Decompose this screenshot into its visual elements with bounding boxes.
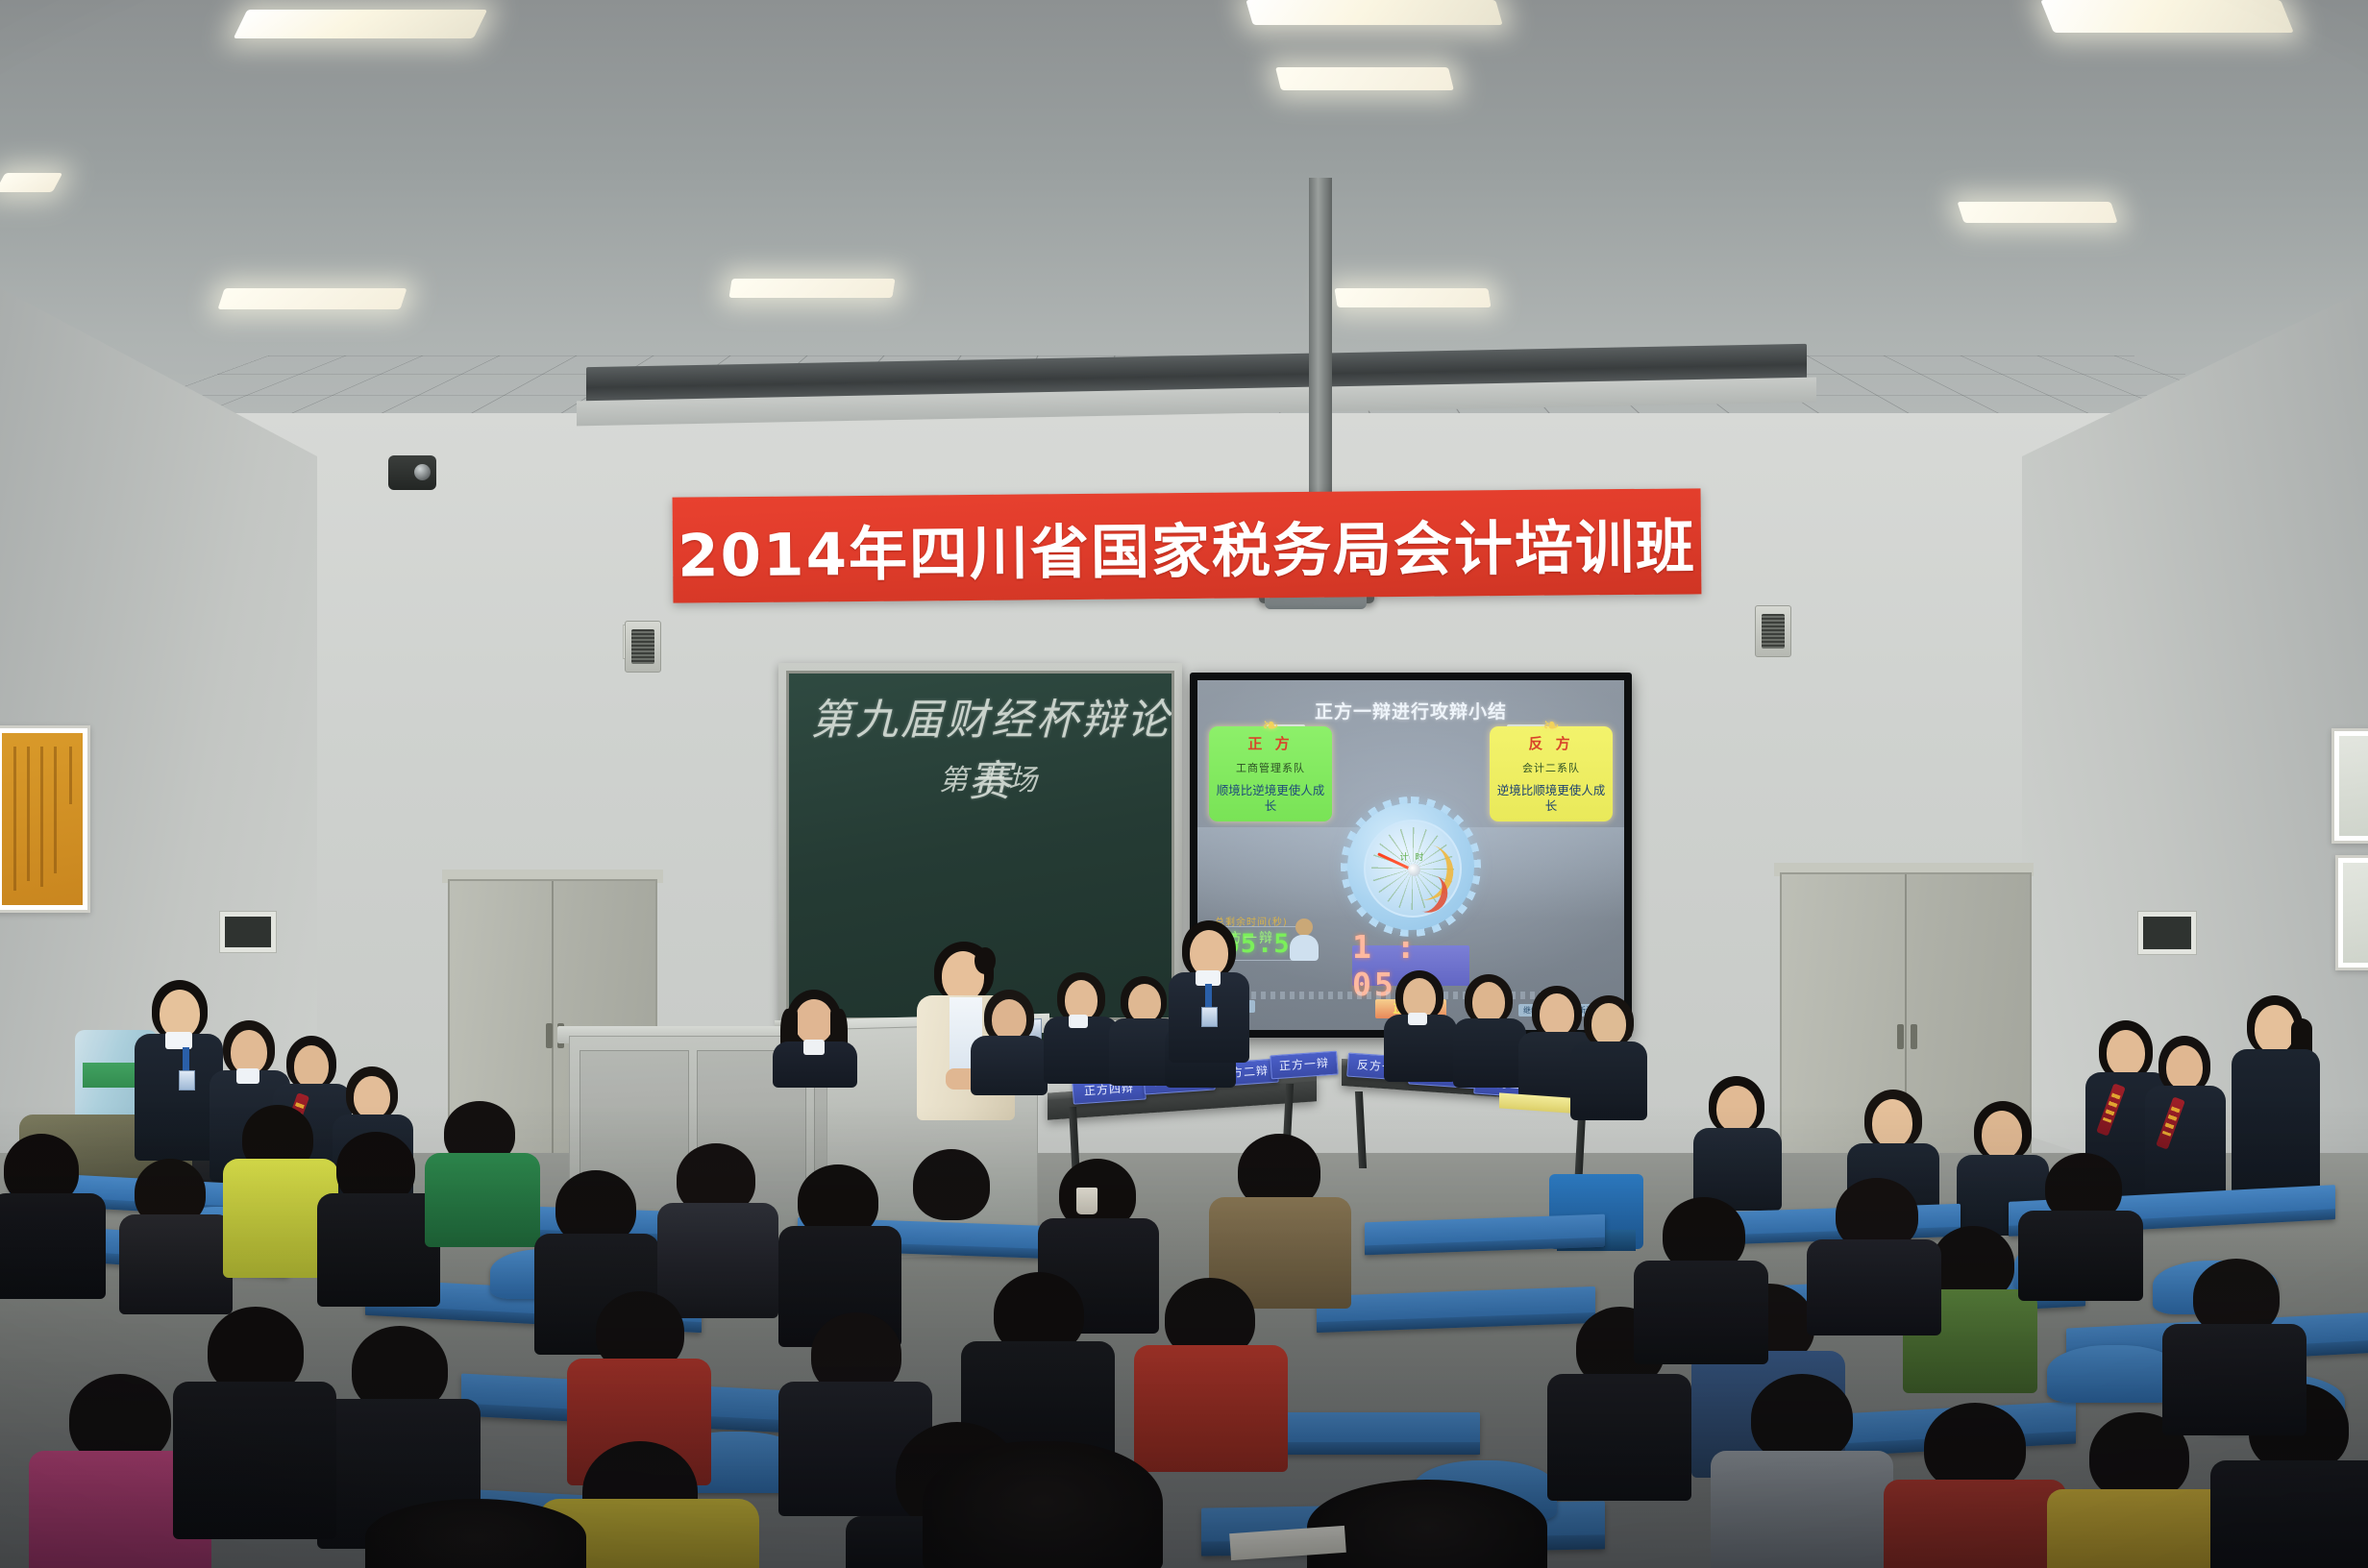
audience-member — [317, 1132, 440, 1305]
ceiling-light — [728, 279, 895, 298]
gauge-dial: 计 时 — [1364, 820, 1462, 918]
wall-speaker-stage-left — [625, 621, 661, 673]
ribbon-icon: ❧ — [1262, 714, 1279, 738]
torso — [971, 1036, 1048, 1095]
torso — [173, 1382, 336, 1539]
camera-lens-icon — [414, 464, 431, 480]
negative-team-name: 会计二系队 — [1495, 760, 1607, 775]
person-debater-negative — [1453, 974, 1526, 1090]
negative-team-card: ❧ 反 方 会计二系队 逆境比顺境更使人成长 — [1490, 726, 1613, 821]
head — [1540, 993, 1574, 1036]
hair — [1307, 1480, 1547, 1568]
person-debater — [1044, 972, 1119, 1086]
ceiling-light — [0, 173, 62, 192]
door-handle-icon — [1897, 1024, 1904, 1049]
head — [2255, 1005, 2295, 1053]
lanyard-badge — [183, 1047, 189, 1072]
head — [1716, 1086, 1757, 1132]
door-handle-icon — [1911, 1024, 1917, 1049]
head — [1190, 930, 1228, 976]
audience-member — [1634, 1197, 1768, 1360]
ribbon-icon: ❧ — [1542, 714, 1560, 738]
audience-member-yellow-coat — [2047, 1412, 2230, 1568]
event-banner: 2014年四川省国家税务局会计培训班 — [673, 488, 1702, 602]
person-moderator-seated — [769, 990, 861, 1076]
ceiling-light — [1275, 67, 1454, 90]
door-handle-icon — [546, 1023, 553, 1048]
affirmative-team-card: ❧ 正 方 工商管理系队 顺境比逆境更使人成长 — [1209, 726, 1332, 821]
audience-member — [173, 1307, 336, 1537]
ceiling-light — [1246, 0, 1502, 25]
placard-affirmative-1: 正方一辩 — [1270, 1051, 1339, 1080]
ceiling-light — [2040, 0, 2294, 33]
torso — [2232, 1049, 2320, 1209]
head — [2107, 1030, 2145, 1076]
person-timekeeper-standing — [1165, 920, 1253, 1065]
audience-chair — [2047, 1345, 2182, 1403]
audience-member-red-coat — [1884, 1403, 2066, 1568]
torso — [2210, 1460, 2368, 1568]
head — [1128, 984, 1161, 1022]
hair-bun — [974, 947, 996, 974]
audience-member-foreground — [1307, 1480, 1547, 1568]
wall-notice-left — [219, 911, 277, 953]
blackboard-subtitle-line: 第十场 — [795, 756, 1174, 798]
torso — [119, 1214, 233, 1314]
lanyard-badge — [1205, 984, 1212, 1009]
hair — [923, 1441, 1163, 1568]
hair — [365, 1499, 586, 1568]
audience-member-grey — [1711, 1374, 1893, 1568]
shirt-collar — [1069, 1015, 1088, 1028]
head — [294, 1045, 329, 1088]
person-debater — [971, 990, 1048, 1095]
audience-member — [0, 1134, 106, 1297]
person-right-seated — [1691, 1076, 1784, 1211]
person-debater-negative — [1570, 995, 1647, 1122]
wall-poster-right-upper — [2331, 728, 2368, 844]
torso — [1453, 1018, 1526, 1088]
ceiling-light — [217, 288, 407, 309]
torso — [317, 1193, 440, 1307]
audience-member — [2018, 1153, 2143, 1297]
grey-hoodie — [1711, 1451, 1893, 1568]
banner-title-text: 2014年四川省国家税务局会计培训班 — [678, 499, 1697, 593]
head — [354, 1076, 390, 1118]
head — [795, 999, 833, 1043]
person-debater-negative — [1384, 970, 1457, 1084]
speaker-avatar-icon — [1290, 919, 1319, 961]
audience-member — [657, 1143, 778, 1316]
audience-member — [119, 1159, 233, 1312]
shirt-collar — [803, 1040, 825, 1055]
head — [1982, 1111, 2022, 1159]
hair — [1924, 1403, 2026, 1491]
torso — [1547, 1374, 1691, 1501]
ceiling-light — [1334, 288, 1491, 307]
wall-poster-right-lower — [2335, 855, 2368, 970]
yellow-coat — [2047, 1489, 2230, 1568]
head — [992, 999, 1026, 1040]
audience-member-foreground — [365, 1499, 586, 1568]
wall-notice-right — [2137, 911, 2197, 955]
negative-motion: 逆境比顺境更使人成长 — [1495, 783, 1607, 813]
head — [1872, 1099, 1912, 1147]
head — [2166, 1045, 2203, 1090]
affirmative-motion: 顺境比逆境更使人成长 — [1215, 783, 1326, 813]
head — [1591, 1003, 1626, 1045]
shirt-collar — [236, 1068, 259, 1084]
audience-member — [2162, 1259, 2306, 1432]
audience-member — [1807, 1178, 1941, 1332]
torso — [1570, 1041, 1647, 1120]
torso — [2018, 1211, 2143, 1301]
green-jacket — [425, 1153, 540, 1247]
gauge-hub — [1408, 864, 1420, 876]
shirt-collar — [1408, 1013, 1427, 1025]
hair — [1751, 1374, 1853, 1462]
ceiling-light — [234, 10, 488, 38]
torso — [2162, 1324, 2306, 1435]
wall-poster-left — [0, 725, 90, 913]
wall-speaker-right — [1755, 605, 1791, 657]
timer-gauge-graphic: 计 时 — [1347, 803, 1474, 930]
torso — [0, 1193, 106, 1299]
paper-cup — [1076, 1188, 1098, 1214]
affirmative-team-name: 工商管理系队 — [1215, 760, 1326, 775]
audience-member-foreground — [923, 1441, 1163, 1568]
audience-member-green — [425, 1101, 540, 1245]
torso — [1807, 1239, 1941, 1335]
ceiling-light — [1957, 202, 2117, 223]
person-usher — [2230, 995, 2322, 1212]
classroom-debate-photo: 2014年四川省国家税务局会计培训班 第九届财经杯辩论赛 第十场 正方一辩进行攻… — [0, 0, 2368, 1568]
red-coat — [1884, 1480, 2066, 1568]
head — [160, 990, 200, 1038]
head — [1472, 982, 1505, 1022]
torso — [1634, 1261, 1768, 1364]
security-camera — [388, 455, 436, 490]
